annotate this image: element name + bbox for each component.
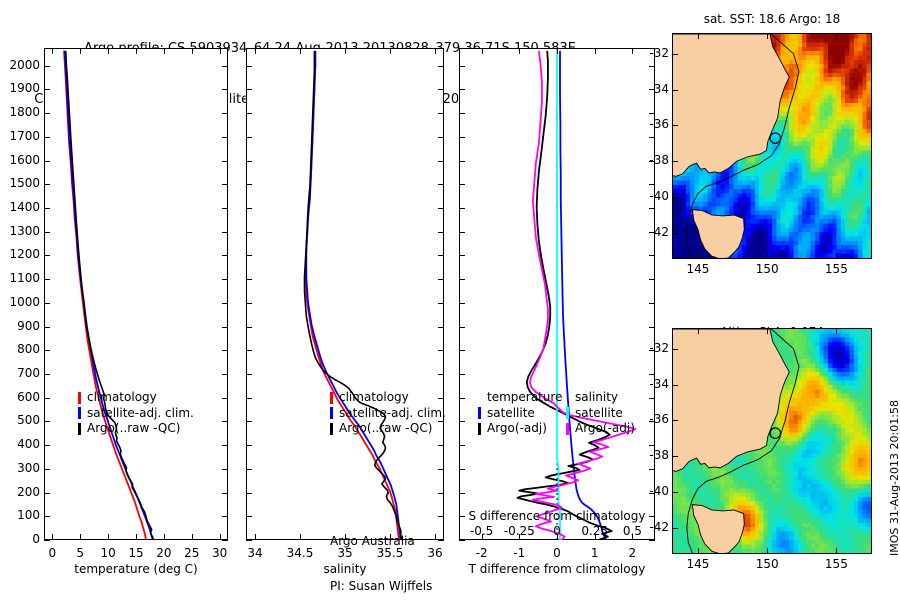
axis-tick-mark — [44, 232, 50, 233]
axis-tick-mark — [44, 161, 50, 162]
axis-tick-mark — [222, 350, 228, 351]
axis-tick-mark — [44, 66, 50, 67]
axis-tick-mark — [649, 279, 655, 280]
axis-tick-mark — [649, 137, 655, 138]
axis-tick-mark — [438, 161, 444, 162]
axis-tick-mark — [246, 184, 252, 185]
legend-header-label: salinity — [575, 390, 618, 406]
axis-tick-label: 400 — [0, 437, 40, 451]
axis-tick-mark — [222, 184, 228, 185]
axis-tick-mark — [300, 534, 301, 540]
map-tick-mark — [673, 233, 678, 234]
axis-tick-mark — [438, 113, 444, 114]
axis-tick-label: 800 — [0, 342, 40, 356]
axis-tick-mark — [459, 113, 465, 114]
axis-tick-mark — [246, 350, 252, 351]
legend-header-label: temperature — [487, 390, 562, 406]
legend-swatch-salinity-satellite — [566, 407, 569, 419]
legend-label: Argo(..raw -QC) — [87, 421, 180, 437]
axis-tick-mark — [649, 113, 655, 114]
map-tick-mark — [836, 329, 837, 334]
map-lat-tick-label: -38 — [633, 448, 669, 462]
legend-item: satellite-adj. clim. — [78, 406, 194, 422]
axis-tick-mark — [246, 113, 252, 114]
axis-tick-mark — [44, 350, 50, 351]
axis-tick-mark — [438, 279, 444, 280]
axis-tick-mark — [222, 540, 228, 541]
axis-tick-mark — [459, 208, 465, 209]
axis-tick-label: 1300 — [0, 224, 40, 238]
axis-tick-mark — [435, 534, 436, 540]
legend-group-header: salinity — [566, 390, 635, 406]
axis-tick-mark — [222, 232, 228, 233]
map-tick-mark — [698, 253, 699, 258]
axis-tick-mark — [649, 303, 655, 304]
axis-tick-mark — [220, 534, 221, 540]
credit-note: Argo Australia PI: Susan Wijffels — [330, 504, 432, 609]
axis-tick-label: 300 — [0, 461, 40, 475]
map-tick-mark — [767, 253, 768, 258]
legend-label: satellite — [487, 406, 535, 422]
legend-item: climatology — [78, 390, 194, 406]
axis-tick-mark — [44, 327, 50, 328]
temperature-axis-label: temperature (deg C) — [44, 562, 228, 576]
map-tick-mark — [673, 420, 678, 421]
axis-tick-mark — [222, 493, 228, 494]
axis-tick-mark — [649, 445, 655, 446]
axis-tick-label: 900 — [0, 319, 40, 333]
sla-map-panel — [672, 328, 872, 554]
axis-tick-mark — [44, 137, 50, 138]
axis-tick-mark — [44, 540, 50, 541]
legend-label: Argo(-adj) — [487, 421, 547, 437]
map-tick-mark — [767, 34, 768, 39]
sst-map-plot — [673, 34, 871, 258]
legend-label: satellite-adj. clim. — [339, 406, 446, 422]
map-tick-mark — [673, 492, 678, 493]
axis-tick-mark — [44, 398, 50, 399]
legend-item: Argo(-adj) — [478, 421, 566, 437]
axis-tick-mark — [438, 303, 444, 304]
temperature-profile-plot — [44, 48, 228, 540]
axis-tick-mark — [222, 113, 228, 114]
axis-tick-mark — [52, 48, 53, 54]
legend-swatch-climatology — [330, 392, 333, 404]
map-tick-mark — [673, 125, 678, 126]
axis-tick-mark — [438, 445, 444, 446]
legend-swatch-temperature-satellite — [478, 407, 481, 419]
axis-tick-mark — [80, 534, 81, 540]
axis-tick-mark — [246, 469, 252, 470]
axis-tick-mark — [246, 516, 252, 517]
sst-map-panel — [672, 33, 872, 259]
axis-tick-mark — [459, 184, 465, 185]
axis-tick-label: 200 — [0, 485, 40, 499]
axis-tick-mark — [345, 48, 346, 54]
map-tick-mark — [698, 34, 699, 39]
axis-tick-mark — [222, 208, 228, 209]
axis-tick-mark — [438, 327, 444, 328]
legend-swatch-satellite-adj — [78, 407, 81, 419]
axis-tick-mark — [438, 374, 444, 375]
legend-swatch-argo — [78, 423, 81, 435]
axis-tick-mark — [80, 48, 81, 54]
axis-tick-mark — [192, 48, 193, 54]
map-tick-mark — [767, 548, 768, 553]
axis-tick-mark — [246, 303, 252, 304]
axis-tick-mark — [44, 208, 50, 209]
legend-item: Argo(..raw -QC) — [78, 421, 194, 437]
map-lat-tick-label: -38 — [633, 153, 669, 167]
axis-tick-label: 1100 — [0, 271, 40, 285]
map-lon-tick-label: 145 — [676, 557, 720, 571]
legend-item: satellite-adj. clim. — [330, 406, 446, 422]
credit-line1: Argo Australia — [330, 534, 432, 549]
axis-tick-mark — [44, 255, 50, 256]
axis-tick-label: 1900 — [0, 81, 40, 95]
legend-label: Argo(-adj) — [575, 421, 635, 437]
map-lat-tick-label: -40 — [633, 484, 669, 498]
axis-tick-mark — [438, 208, 444, 209]
axis-tick-mark — [459, 469, 465, 470]
map-lat-tick-label: -34 — [633, 377, 669, 391]
map-tick-mark — [836, 34, 837, 39]
legend-label: Argo(..raw -QC) — [339, 421, 432, 437]
axis-tick-mark — [222, 445, 228, 446]
axis-tick-mark — [44, 113, 50, 114]
axis-tick-mark — [459, 255, 465, 256]
axis-tick-mark — [44, 89, 50, 90]
axis-tick-mark — [44, 469, 50, 470]
axis-tick-label: 1800 — [0, 105, 40, 119]
axis-tick-label: 1600 — [0, 153, 40, 167]
axis-tick-mark — [649, 540, 655, 541]
axis-tick-mark — [438, 137, 444, 138]
axis-tick-mark — [136, 48, 137, 54]
temperature-panel-legend: climatology satellite-adj. clim. Argo(..… — [78, 390, 194, 437]
axis-tick-mark — [438, 540, 444, 541]
map-lon-tick-label: 155 — [814, 557, 858, 571]
axis-tick-mark — [649, 374, 655, 375]
axis-tick-mark — [246, 89, 252, 90]
map-tick-mark — [836, 548, 837, 553]
axis-tick-mark — [246, 493, 252, 494]
axis-tick-mark — [649, 327, 655, 328]
axis-tick-mark — [438, 493, 444, 494]
axis-tick-mark — [222, 421, 228, 422]
axis-tick-label: 1700 — [0, 129, 40, 143]
map-lon-tick-label: 155 — [814, 262, 858, 276]
axis-tick-mark — [459, 279, 465, 280]
axis-tick-mark — [519, 48, 520, 54]
legend-group-temperature: temperature satellite Argo(-adj) — [478, 390, 566, 437]
legend-label: climatology — [87, 390, 157, 406]
axis-tick-mark — [246, 208, 252, 209]
timestamp-label: IMOS 31-Aug-2013 20:01:58 — [888, 400, 900, 556]
axis-tick-mark — [438, 516, 444, 517]
axis-tick-mark — [595, 48, 596, 54]
axis-tick-mark — [44, 421, 50, 422]
legend-item: Argo(..raw -QC) — [330, 421, 446, 437]
axis-tick-mark — [459, 137, 465, 138]
salinity-profile-plot — [246, 48, 444, 540]
axis-tick-mark — [108, 534, 109, 540]
axis-tick-mark — [459, 540, 465, 541]
axis-tick-mark — [220, 48, 221, 54]
legend-item: satellite — [478, 406, 566, 422]
axis-tick-mark — [222, 255, 228, 256]
map-tick-mark — [673, 349, 678, 350]
axis-tick-mark — [649, 184, 655, 185]
map-tick-mark — [698, 548, 699, 553]
axis-tick-mark — [649, 398, 655, 399]
axis-tick-mark — [459, 66, 465, 67]
axis-tick-mark — [438, 469, 444, 470]
map-lon-tick-label: 150 — [745, 557, 789, 571]
map-lon-tick-label: 150 — [745, 262, 789, 276]
axis-tick-mark — [52, 534, 53, 540]
axis-tick-mark — [246, 255, 252, 256]
legend-group-header: temperature — [478, 390, 566, 406]
axis-tick-label: 1200 — [0, 247, 40, 261]
legend-swatch-salinity-argo-adj — [566, 423, 569, 435]
axis-tick-label: 1000 — [0, 295, 40, 309]
axis-tick-mark — [459, 303, 465, 304]
sst-map-title: sat. SST: 18.6 Argo: 18 — [672, 12, 872, 27]
axis-tick-mark — [459, 327, 465, 328]
axis-tick-mark — [246, 279, 252, 280]
axis-tick-label: 700 — [0, 366, 40, 380]
axis-tick-mark — [44, 374, 50, 375]
axis-tick-mark — [246, 540, 252, 541]
axis-tick-mark — [482, 48, 483, 54]
axis-tick-mark — [246, 232, 252, 233]
map-tick-mark — [673, 528, 678, 529]
axis-tick-mark — [136, 534, 137, 540]
axis-tick-label: 34.5 — [278, 546, 322, 560]
map-lat-tick-label: -42 — [633, 225, 669, 239]
axis-tick-label: 34 — [233, 546, 277, 560]
axis-tick-mark — [557, 48, 558, 54]
difference-profile-plot — [459, 48, 655, 540]
axis-tick-mark — [459, 374, 465, 375]
legend-item: Argo(-adj) — [566, 421, 635, 437]
axis-tick-label: 2 — [610, 546, 654, 560]
axis-tick-label: 2000 — [0, 58, 40, 72]
axis-tick-mark — [255, 48, 256, 54]
axis-tick-mark — [435, 48, 436, 54]
axis-tick-label: 500 — [0, 413, 40, 427]
axis-tick-mark — [390, 48, 391, 54]
axis-tick-mark — [438, 89, 444, 90]
map-tick-mark — [698, 329, 699, 334]
map-lat-tick-label: -32 — [633, 341, 669, 355]
map-lat-tick-label: -42 — [633, 520, 669, 534]
axis-tick-label: 1400 — [0, 200, 40, 214]
map-tick-mark — [673, 161, 678, 162]
axis-tick-mark — [222, 89, 228, 90]
axis-tick-mark — [459, 421, 465, 422]
axis-tick-mark — [246, 374, 252, 375]
axis-tick-mark — [438, 66, 444, 67]
axis-tick-mark — [222, 279, 228, 280]
axis-tick-mark — [459, 445, 465, 446]
map-tick-mark — [673, 385, 678, 386]
difference-panel-legend: temperature satellite Argo(-adj) salinit… — [478, 390, 635, 437]
legend-label: satellite-adj. clim. — [87, 406, 194, 422]
legend-item: climatology — [330, 390, 446, 406]
axis-tick-mark — [222, 66, 228, 67]
legend-label: climatology — [339, 390, 409, 406]
legend-swatch-climatology — [78, 392, 81, 404]
axis-tick-mark — [649, 255, 655, 256]
axis-tick-mark — [246, 161, 252, 162]
axis-tick-mark — [649, 469, 655, 470]
map-lat-tick-label: -34 — [633, 82, 669, 96]
axis-tick-mark — [222, 161, 228, 162]
axis-tick-mark — [649, 208, 655, 209]
legend-swatch-satellite-adj — [330, 407, 333, 419]
s-difference-axis-label: S difference from climatology — [459, 509, 655, 523]
axis-tick-mark — [192, 534, 193, 540]
axis-tick-mark — [246, 66, 252, 67]
axis-tick-mark — [222, 303, 228, 304]
axis-tick-mark — [44, 303, 50, 304]
credit-line2: PI: Susan Wijffels — [330, 579, 432, 594]
legend-swatch-temperature-argo-adj — [478, 423, 481, 435]
legend-item: satellite — [566, 406, 635, 422]
axis-tick-mark — [438, 184, 444, 185]
map-lat-tick-label: -36 — [633, 412, 669, 426]
axis-tick-mark — [438, 232, 444, 233]
axis-tick-mark — [459, 89, 465, 90]
axis-tick-mark — [44, 184, 50, 185]
map-lat-tick-label: -36 — [633, 117, 669, 131]
axis-tick-mark — [246, 398, 252, 399]
map-tick-mark — [836, 253, 837, 258]
t-difference-axis-label: T difference from climatology — [459, 562, 655, 576]
axis-tick-mark — [438, 350, 444, 351]
axis-tick-mark — [246, 327, 252, 328]
legend-group-salinity: salinity satellite Argo(-adj) — [566, 390, 635, 437]
axis-tick-mark — [649, 66, 655, 67]
legend-swatch-argo — [330, 423, 333, 435]
axis-tick-mark — [222, 137, 228, 138]
axis-tick-mark — [459, 493, 465, 494]
axis-tick-mark — [459, 350, 465, 351]
map-lat-tick-label: -40 — [633, 189, 669, 203]
axis-tick-mark — [44, 445, 50, 446]
map-tick-mark — [673, 90, 678, 91]
axis-tick-mark — [222, 398, 228, 399]
map-tick-mark — [767, 329, 768, 334]
axis-tick-mark — [459, 232, 465, 233]
axis-tick-mark — [222, 327, 228, 328]
axis-tick-mark — [246, 445, 252, 446]
axis-tick-mark — [246, 137, 252, 138]
axis-tick-mark — [255, 534, 256, 540]
axis-tick-mark — [222, 516, 228, 517]
axis-tick-mark — [44, 493, 50, 494]
legend-label: satellite — [575, 406, 623, 422]
axis-tick-mark — [44, 516, 50, 517]
axis-tick-mark — [44, 279, 50, 280]
map-lat-tick-label: -32 — [633, 46, 669, 60]
axis-tick-mark — [108, 48, 109, 54]
sla-map-plot — [673, 329, 871, 553]
axis-tick-mark — [222, 374, 228, 375]
axis-tick-label: 600 — [0, 390, 40, 404]
map-tick-mark — [673, 54, 678, 55]
salinity-panel-legend: climatology satellite-adj. clim. Argo(..… — [330, 390, 446, 437]
axis-tick-label: 1500 — [0, 176, 40, 190]
axis-tick-label: 100 — [0, 508, 40, 522]
axis-tick-label: 0 — [0, 532, 40, 546]
axis-tick-mark — [459, 398, 465, 399]
axis-tick-mark — [164, 48, 165, 54]
axis-tick-mark — [246, 421, 252, 422]
axis-tick-mark — [459, 161, 465, 162]
axis-tick-mark — [164, 534, 165, 540]
map-tick-mark — [673, 197, 678, 198]
axis-tick-mark — [300, 48, 301, 54]
axis-tick-mark — [438, 255, 444, 256]
map-lon-tick-label: 145 — [676, 262, 720, 276]
axis-tick-mark — [222, 469, 228, 470]
map-tick-mark — [673, 456, 678, 457]
